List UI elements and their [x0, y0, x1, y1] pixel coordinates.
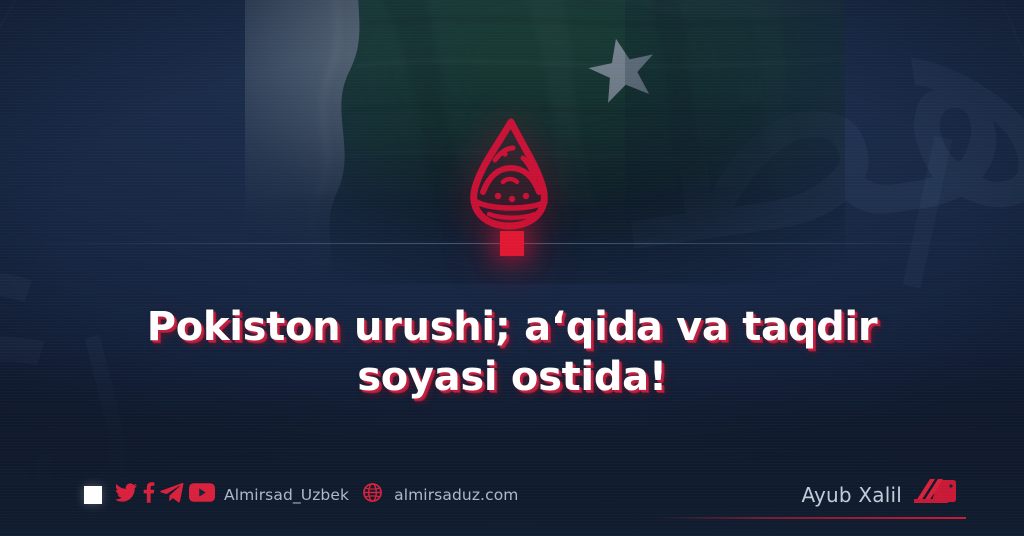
red-square-marker: [500, 231, 524, 256]
page-title: Pokiston urushi; aʻqida va taqdir soyasi…: [0, 302, 1024, 402]
white-square-marker: [84, 486, 102, 504]
youtube-icon[interactable]: [189, 483, 215, 507]
website-url[interactable]: almirsaduz.com: [394, 486, 518, 504]
globe-icon: [363, 483, 382, 507]
facebook-icon[interactable]: [142, 482, 155, 508]
footer-author-group: Ayub Xalil: [801, 477, 958, 512]
footer-social-group: Almirsad_Uzbek almirsaduz.com: [84, 482, 518, 508]
headline-line-1: Pokiston urushi; aʻqida va taqdir: [147, 304, 878, 350]
author-name: Ayub Xalil: [801, 483, 902, 507]
social-icon-list: [115, 482, 215, 508]
twitter-icon[interactable]: [115, 483, 137, 507]
telegram-icon[interactable]: [160, 483, 184, 508]
poster-canvas: ه‍ظ ا ﻉ ﻝ: [0, 0, 1024, 536]
author-underline: [656, 517, 966, 519]
headline-line-2: soyasi ostida!: [357, 354, 667, 400]
footer-bar: Almirsad_Uzbek almirsaduz.com Ayub Xalil: [0, 464, 1024, 536]
social-handle[interactable]: Almirsad_Uzbek: [224, 486, 349, 504]
author-pen-mark-icon: [912, 477, 958, 512]
